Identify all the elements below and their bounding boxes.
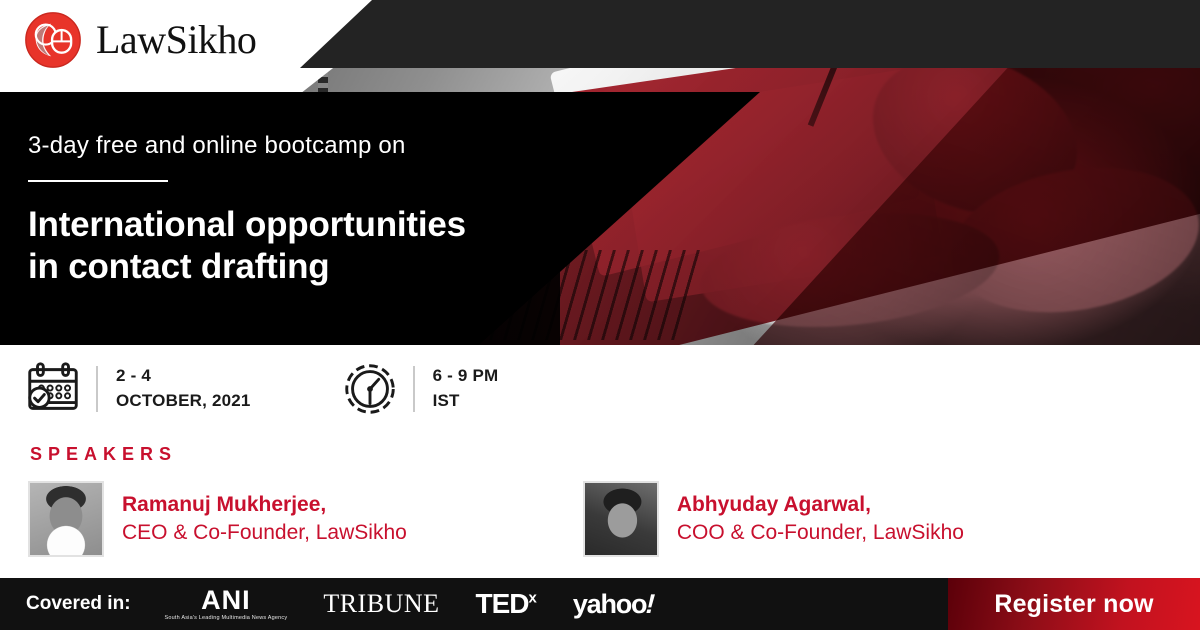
speaker-photo-ramanuj — [28, 481, 104, 557]
event-time-line-2: IST — [433, 389, 499, 414]
speaker-item: Abhyuday Agarwal, COO & Co-Founder, LawS… — [583, 481, 964, 557]
speaker-title: COO & Co-Founder, LawSikho — [677, 519, 964, 547]
event-time-line-1: 6 - 9 PM — [433, 364, 499, 389]
brand-logo[interactable]: LawSikho — [24, 11, 256, 69]
register-now-label: Register now — [994, 590, 1153, 619]
tedx-logo-suffix: x — [528, 590, 536, 607]
brand-name: LawSikho — [96, 20, 256, 60]
speaker-name: Ramanuj Mukherjee, — [122, 491, 407, 519]
event-date-text: 2 - 4 OCTOBER, 2021 — [116, 364, 251, 413]
press-logos: ANI South Asia's Leading Multimedia News… — [165, 587, 655, 622]
speaker-info: Ramanuj Mukherjee, CEO & Co-Founder, Law… — [122, 491, 407, 546]
speakers-heading: SPEAKERS — [30, 444, 177, 465]
ani-logo-tagline: South Asia's Leading Multimedia News Age… — [165, 616, 288, 622]
speaker-item: Ramanuj Mukherjee, CEO & Co-Founder, Law… — [28, 481, 407, 557]
headline-block: 3-day free and online bootcamp on Intern… — [28, 132, 648, 289]
hero-top-dark-bar — [300, 0, 1200, 68]
speaker-info: Abhyuday Agarwal, COO & Co-Founder, LawS… — [677, 491, 964, 546]
speakers-row: Ramanuj Mukherjee, CEO & Co-Founder, Law… — [28, 481, 1178, 557]
headline-line-1: International opportunities — [28, 204, 648, 247]
event-info-row: 2 - 4 OCTOBER, 2021 6 - 9 PM IST — [22, 358, 498, 420]
yahoo-logo-text: yahoo — [573, 589, 647, 619]
speaker-title: CEO & Co-Founder, LawSikho — [122, 519, 407, 547]
headline-line-2: in contact drafting — [28, 246, 648, 289]
info-divider — [413, 366, 415, 412]
eyebrow-text: 3-day free and online bootcamp on — [28, 132, 648, 160]
event-date-line-2: OCTOBER, 2021 — [116, 389, 251, 414]
event-time-text: 6 - 9 PM IST — [433, 364, 499, 413]
yahoo-logo: yahoo! — [573, 591, 654, 618]
headline-title: International opportunities in contact d… — [28, 204, 648, 289]
ani-logo: ANI South Asia's Leading Multimedia News… — [165, 587, 288, 622]
covered-in-label: Covered in: — [26, 593, 131, 615]
clock-icon — [339, 358, 401, 420]
tedx-logo-text: TED — [475, 588, 528, 619]
speaker-photo-abhyuday — [583, 481, 659, 557]
event-date-line-1: 2 - 4 — [116, 364, 251, 389]
promo-banner: LawSikho 3-day free and online bootcamp … — [0, 0, 1200, 630]
register-now-button[interactable]: Register now — [948, 578, 1200, 630]
tedx-logo: TEDx — [475, 590, 536, 618]
ani-logo-text: ANI — [165, 587, 288, 614]
headline-divider — [28, 180, 168, 182]
event-time-item: 6 - 9 PM IST — [339, 358, 499, 420]
lawsikho-logo-icon — [24, 11, 82, 69]
calendar-icon — [22, 358, 84, 420]
speaker-name: Abhyuday Agarwal, — [677, 491, 964, 519]
tribune-logo: TRIBUNE — [323, 591, 439, 617]
event-date-item: 2 - 4 OCTOBER, 2021 — [22, 358, 251, 420]
info-divider — [96, 366, 98, 412]
